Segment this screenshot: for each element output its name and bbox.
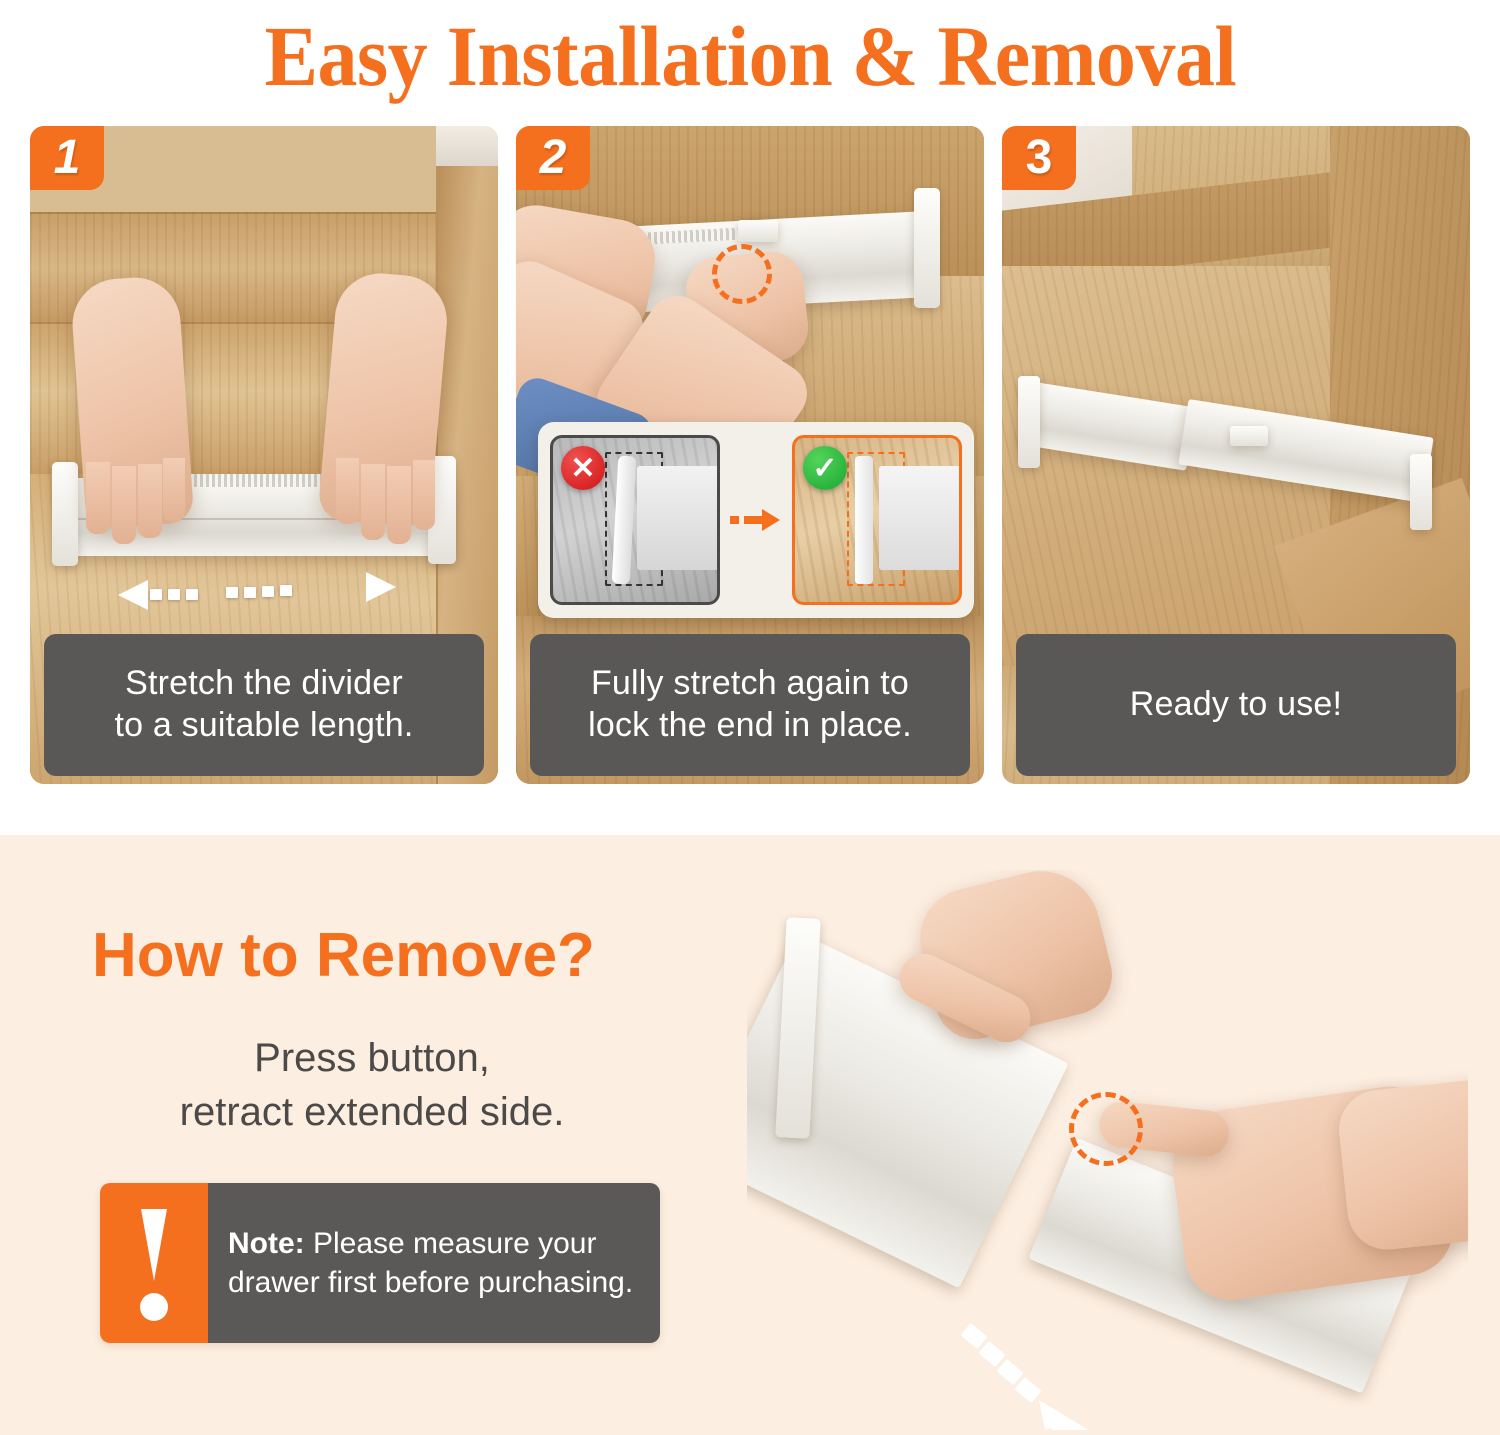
retract-direction-arrow-icon bbox=[957, 1318, 1137, 1430]
divider-lock-tab bbox=[738, 220, 778, 242]
left-hand-finger-1 bbox=[86, 462, 110, 534]
exclamation-dot bbox=[140, 1293, 168, 1321]
left-hand-finger-3 bbox=[138, 464, 162, 538]
step-caption-2: Fully stretch again to lock the end in p… bbox=[530, 634, 970, 776]
right-hand-finger-2 bbox=[361, 464, 385, 540]
removal-text-block: How to Remove? Press button, retract ext… bbox=[92, 925, 722, 1139]
step-number-badge-3: 3 bbox=[1002, 126, 1076, 190]
press-button-highlight-circle bbox=[1069, 1092, 1143, 1166]
stretch-double-arrow-icon bbox=[118, 574, 396, 614]
step-caption-2-line2: lock the end in place. bbox=[588, 704, 912, 747]
step-panel-1: 1 Stretch the divider to a suitable leng… bbox=[30, 126, 498, 784]
steps-row: 1 Stretch the divider to a suitable leng… bbox=[30, 126, 1470, 784]
removal-photo bbox=[747, 870, 1468, 1430]
divider-left-end-cap bbox=[52, 462, 78, 566]
check-icon: ✓ bbox=[803, 446, 847, 490]
removal-subtitle-line2: retract extended side. bbox=[92, 1085, 652, 1139]
correct-example-image: ✓ bbox=[792, 435, 962, 605]
step-caption-1: Stretch the divider to a suitable length… bbox=[44, 634, 484, 776]
note-label: Note: bbox=[228, 1227, 305, 1260]
left-hand-finger-4 bbox=[163, 458, 185, 522]
exclamation-icon bbox=[100, 1183, 208, 1343]
step-caption-3-line1: Ready to use! bbox=[1130, 683, 1342, 726]
exclamation-bar bbox=[141, 1209, 167, 1281]
note-text-container: Note: Please measure your drawer first b… bbox=[208, 1183, 660, 1343]
correct-divider-end bbox=[855, 456, 873, 584]
divider-right-end-cap bbox=[914, 188, 940, 308]
note-box: Note: Please measure your drawer first b… bbox=[100, 1183, 660, 1343]
divider-lock-tab bbox=[1230, 426, 1268, 446]
correct-vs-incorrect-inset: ✕ ✓ bbox=[538, 422, 974, 618]
cross-icon: ✕ bbox=[561, 446, 605, 490]
right-hand-finger-1 bbox=[336, 458, 359, 524]
lower-hand-forearm bbox=[1335, 1075, 1468, 1254]
step-caption-1-line1: Stretch the divider bbox=[125, 662, 403, 705]
step-panel-2: ✕ ✓ bbox=[516, 126, 984, 784]
inset-transition-arrow bbox=[728, 507, 784, 533]
right-hand-finger-4 bbox=[413, 460, 435, 530]
removal-subtitle: Press button, retract extended side. bbox=[92, 1031, 652, 1139]
arrow-svg bbox=[957, 1318, 1137, 1430]
removal-subtitle-line1: Press button, bbox=[92, 1031, 652, 1085]
correct-divider-rail bbox=[879, 466, 961, 570]
incorrect-example-image: ✕ bbox=[550, 435, 720, 605]
divider-left-end-cap bbox=[1018, 376, 1040, 468]
incorrect-divider-rail bbox=[637, 466, 719, 570]
page-title: Easy Installation & Removal bbox=[264, 13, 1236, 99]
step-caption-3: Ready to use! bbox=[1016, 634, 1456, 776]
removal-title: How to Remove? bbox=[92, 925, 722, 987]
countertop-edge bbox=[436, 126, 498, 166]
step-panel-3: 3 Ready to use! bbox=[1002, 126, 1470, 784]
removal-section: How to Remove? Press button, retract ext… bbox=[0, 835, 1500, 1435]
left-hand-finger-2 bbox=[112, 466, 136, 544]
note-text: Note: Please measure your drawer first b… bbox=[228, 1224, 644, 1302]
right-hand-finger-3 bbox=[387, 466, 411, 544]
step-caption-1-line2: to a suitable length. bbox=[114, 704, 413, 747]
step-caption-2-line1: Fully stretch again to bbox=[591, 662, 909, 705]
step-number-badge-1: 1 bbox=[30, 126, 104, 190]
header: Easy Installation & Removal bbox=[0, 0, 1500, 112]
right-arrow-icon bbox=[730, 507, 782, 533]
infographic-page: Easy Installation & Removal bbox=[0, 0, 1500, 1435]
lock-point-highlight-circle bbox=[712, 244, 772, 304]
step-number-badge-2: 2 bbox=[516, 126, 590, 190]
divider-right-end-cap bbox=[1410, 454, 1432, 530]
